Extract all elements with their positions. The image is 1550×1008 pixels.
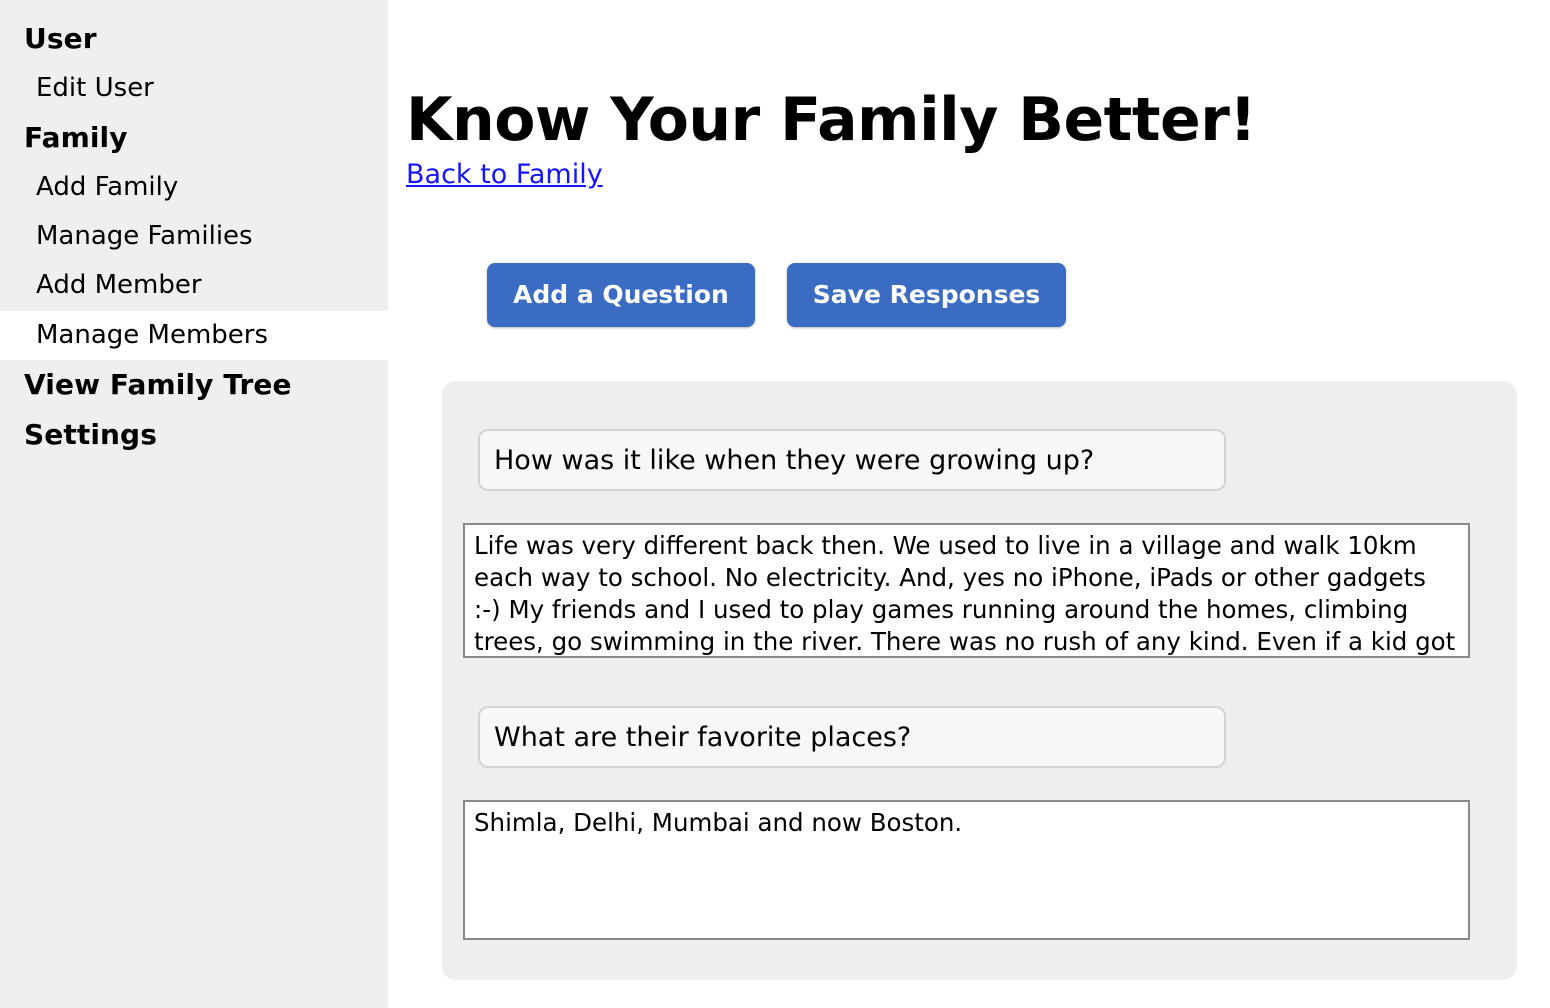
sidebar: User Edit User Family Add Family Manage … bbox=[0, 0, 388, 1008]
sidebar-item-user[interactable]: User bbox=[0, 14, 388, 64]
answer-textarea[interactable]: Life was very different back then. We us… bbox=[463, 523, 1470, 658]
page-title: Know Your Family Better! bbox=[406, 90, 1256, 150]
save-responses-button[interactable]: Save Responses bbox=[787, 263, 1067, 327]
questions-panel: Life was very different back then. We us… bbox=[442, 381, 1517, 980]
question-input[interactable] bbox=[478, 706, 1226, 768]
question-input[interactable] bbox=[478, 429, 1226, 491]
app-root: User Edit User Family Add Family Manage … bbox=[0, 0, 1550, 1008]
action-button-row: Add a Question Save Responses bbox=[487, 263, 1066, 327]
sidebar-item-family[interactable]: Family bbox=[0, 113, 388, 163]
main-content: Know Your Family Better! Back to Family … bbox=[388, 0, 1550, 1008]
sidebar-item-add-member[interactable]: Add Member bbox=[0, 261, 388, 310]
add-a-question-button[interactable]: Add a Question bbox=[487, 263, 755, 327]
sidebar-item-view-family-tree[interactable]: View Family Tree bbox=[0, 360, 388, 410]
sidebar-item-manage-members[interactable]: Manage Members bbox=[0, 311, 388, 360]
sidebar-item-manage-families[interactable]: Manage Families bbox=[0, 212, 388, 261]
back-to-family-link[interactable]: Back to Family bbox=[406, 159, 603, 190]
sidebar-item-edit-user[interactable]: Edit User bbox=[0, 64, 388, 113]
sidebar-item-settings[interactable]: Settings bbox=[0, 410, 388, 460]
answer-textarea[interactable]: Shimla, Delhi, Mumbai and now Boston. bbox=[463, 800, 1470, 940]
sidebar-item-add-family[interactable]: Add Family bbox=[0, 163, 388, 212]
